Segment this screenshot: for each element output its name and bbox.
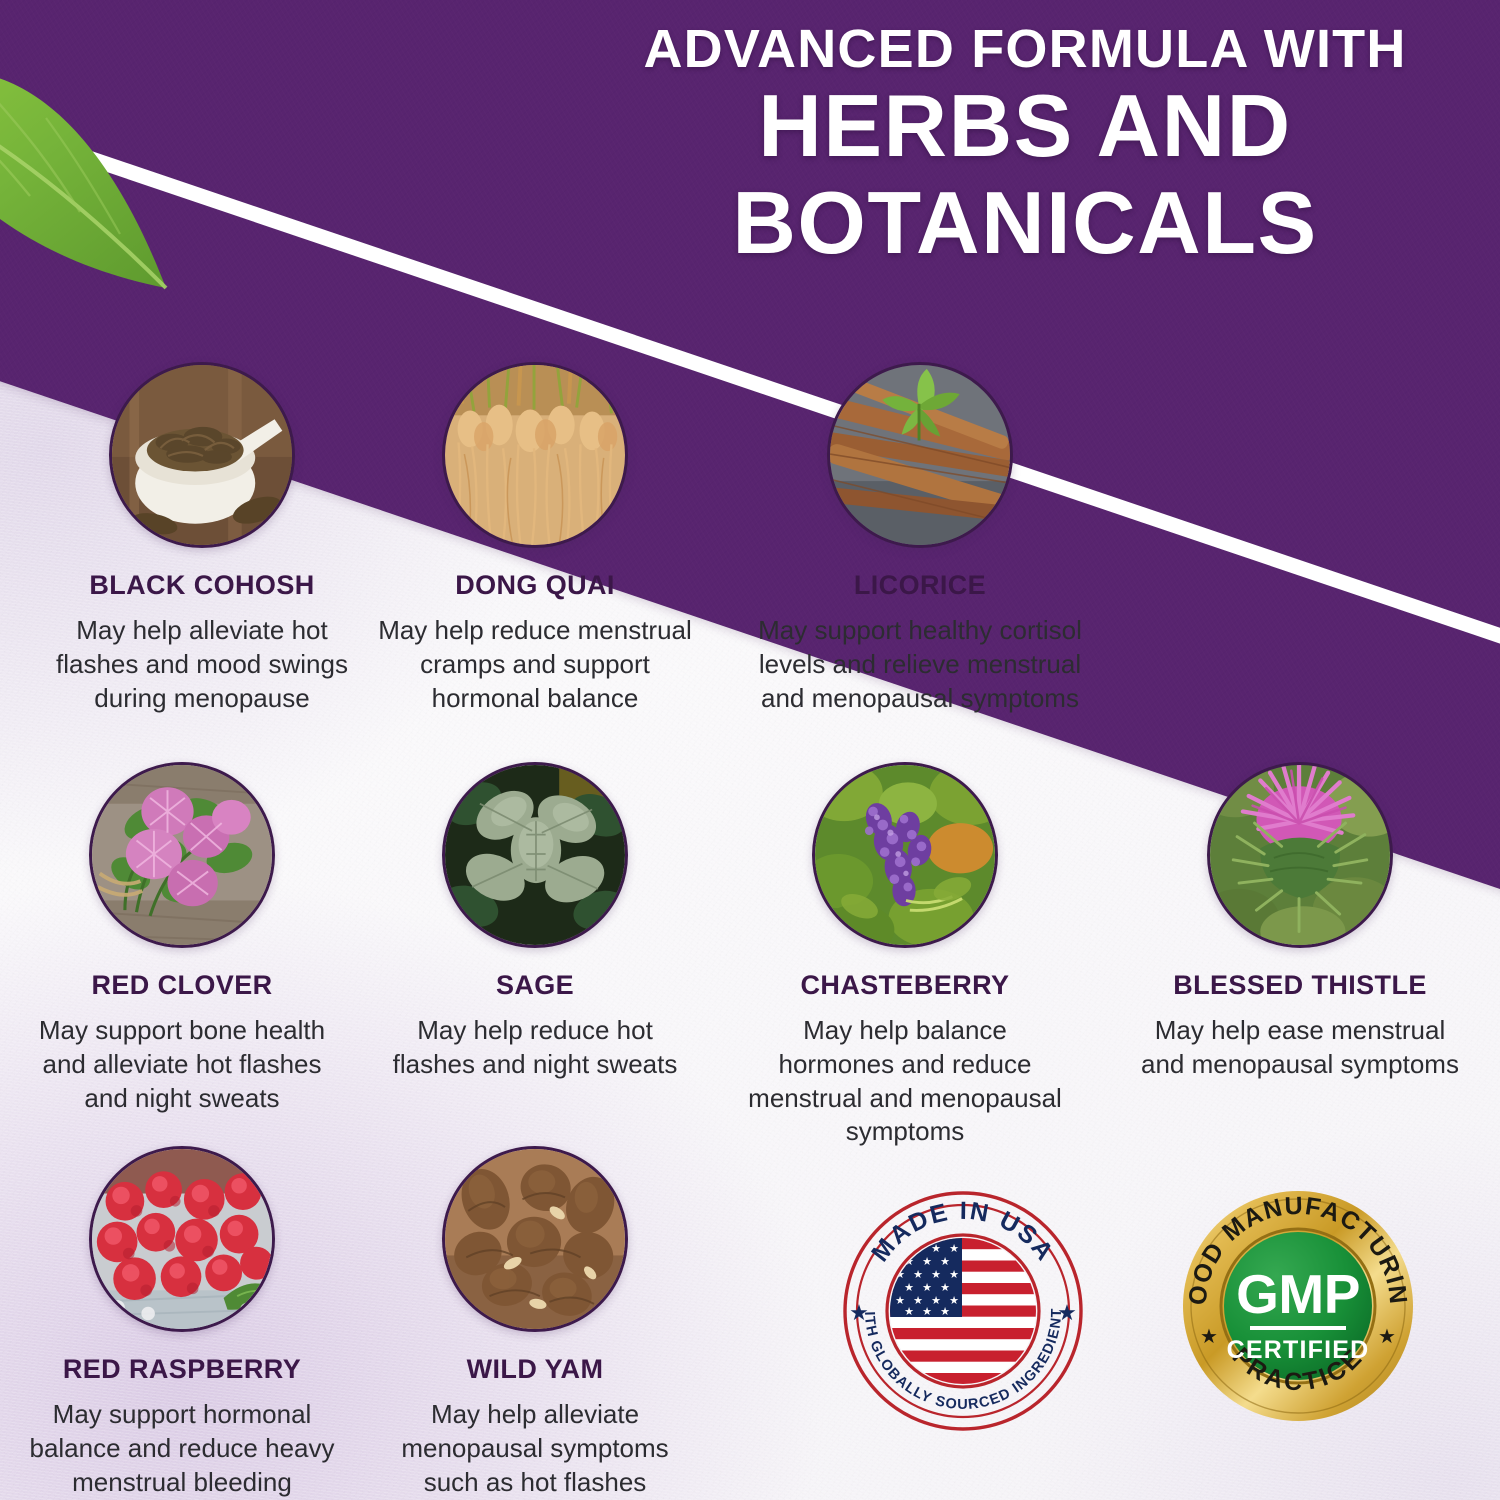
svg-text:★: ★ bbox=[904, 1305, 914, 1318]
herb-description: May help reduce menstrual cramps and sup… bbox=[375, 614, 695, 715]
svg-text:★: ★ bbox=[931, 1268, 941, 1281]
herb-name: BLESSED THISTLE bbox=[1135, 970, 1465, 1001]
usa-flag-seal-icon: ★★★★ ★★★ ★★★★ ★★★ ★★★★ ★★★ MADE IN USA W… bbox=[838, 1186, 1088, 1436]
svg-text:★: ★ bbox=[1378, 1324, 1396, 1348]
herb-card-licorice: LICORICE May support healthy cortisol le… bbox=[740, 362, 1100, 715]
header-line-2: HERBS AND bbox=[560, 78, 1490, 175]
svg-text:★: ★ bbox=[913, 1268, 923, 1281]
herb-card-sage: SAGE May help reduce hot flashes and nig… bbox=[375, 762, 695, 1082]
licorice-sticks-icon bbox=[827, 362, 1013, 548]
herb-name: LICORICE bbox=[740, 570, 1100, 601]
svg-text:★: ★ bbox=[949, 1268, 959, 1281]
herb-name: SAGE bbox=[375, 970, 695, 1001]
gmp-center-sub: CERTIFIED bbox=[1227, 1336, 1370, 1364]
herb-description: May help alleviate hot flashes and mood … bbox=[42, 614, 362, 715]
herb-name: WILD YAM bbox=[375, 1354, 695, 1385]
herb-name: DONG QUAI bbox=[375, 570, 695, 601]
herb-name: RED RASPBERRY bbox=[22, 1354, 342, 1385]
svg-text:★: ★ bbox=[922, 1305, 932, 1318]
herb-description: May support hormonal balance and reduce … bbox=[22, 1398, 342, 1499]
herb-card-black-cohosh: BLACK COHOSH May help alleviate hot flas… bbox=[42, 362, 362, 715]
herb-name: BLACK COHOSH bbox=[42, 570, 362, 601]
herb-description: May support bone health and alleviate ho… bbox=[22, 1014, 342, 1115]
infographic-poster: ADVANCED FORMULA WITH HERBS AND BOTANICA… bbox=[0, 0, 1500, 1500]
herb-description: May help ease menstrual and menopausal s… bbox=[1135, 1014, 1465, 1082]
svg-text:★: ★ bbox=[940, 1305, 950, 1318]
herb-card-dong-quai: DONG QUAI May help reduce menstrual cram… bbox=[375, 362, 695, 715]
herb-name: CHASTEBERRY bbox=[745, 970, 1065, 1001]
herb-card-blessed-thistle: BLESSED THISTLE May help ease menstrual … bbox=[1135, 762, 1465, 1082]
svg-text:★: ★ bbox=[949, 1294, 959, 1307]
svg-text:★: ★ bbox=[940, 1255, 950, 1268]
gmp-certified-seal-icon: GOOD MANUFACTURING PRACTICE ★ ★ GMP CERT… bbox=[1178, 1186, 1418, 1426]
herb-description: May support healthy cortisol levels and … bbox=[740, 614, 1100, 715]
svg-text:★: ★ bbox=[922, 1281, 932, 1294]
thistle-flower-icon bbox=[1207, 762, 1393, 948]
leaf-icon bbox=[0, 56, 224, 326]
raspberries-icon bbox=[89, 1146, 275, 1332]
svg-text:★: ★ bbox=[949, 1242, 959, 1255]
svg-text:★: ★ bbox=[904, 1281, 914, 1294]
herb-card-wild-yam: WILD YAM May help alleviate menopausal s… bbox=[375, 1146, 695, 1499]
svg-text:★: ★ bbox=[1057, 1301, 1077, 1326]
gmp-center-main: GMP bbox=[1236, 1263, 1360, 1325]
herb-description: May help balance hormones and reduce men… bbox=[745, 1014, 1065, 1149]
made-in-usa-badge: ★★★★ ★★★ ★★★★ ★★★ ★★★★ ★★★ MADE IN USA W… bbox=[838, 1186, 1088, 1436]
header-line-1: ADVANCED FORMULA WITH bbox=[560, 20, 1490, 78]
herb-card-red-clover: RED CLOVER May support bone health and a… bbox=[22, 762, 342, 1115]
svg-text:★: ★ bbox=[849, 1301, 869, 1326]
dong-quai-roots-icon bbox=[442, 362, 628, 548]
red-clover-flowers-icon bbox=[89, 762, 275, 948]
svg-text:★: ★ bbox=[940, 1281, 950, 1294]
gmp-certified-badge: GOOD MANUFACTURING PRACTICE ★ ★ GMP CERT… bbox=[1178, 1186, 1418, 1426]
poster-header: ADVANCED FORMULA WITH HERBS AND BOTANICA… bbox=[560, 20, 1490, 272]
svg-text:★: ★ bbox=[931, 1242, 941, 1255]
chasteberry-blossom-icon bbox=[812, 762, 998, 948]
herb-description: May help alleviate menopausal symptoms s… bbox=[375, 1398, 695, 1499]
wild-yam-roots-icon bbox=[442, 1146, 628, 1332]
mortar-and-pestle-herb-icon bbox=[109, 362, 295, 548]
svg-text:★: ★ bbox=[1200, 1324, 1218, 1348]
herb-name: RED CLOVER bbox=[22, 970, 342, 1001]
sage-leaves-icon bbox=[442, 762, 628, 948]
header-line-3: BOTANICALS bbox=[560, 175, 1490, 272]
herb-card-red-raspberry: RED RASPBERRY May support hormonal balan… bbox=[22, 1146, 342, 1499]
herb-description: May help reduce hot flashes and night sw… bbox=[375, 1014, 695, 1082]
svg-text:★: ★ bbox=[922, 1255, 932, 1268]
herb-card-chasteberry: CHASTEBERRY May help balance hormones an… bbox=[745, 762, 1065, 1149]
